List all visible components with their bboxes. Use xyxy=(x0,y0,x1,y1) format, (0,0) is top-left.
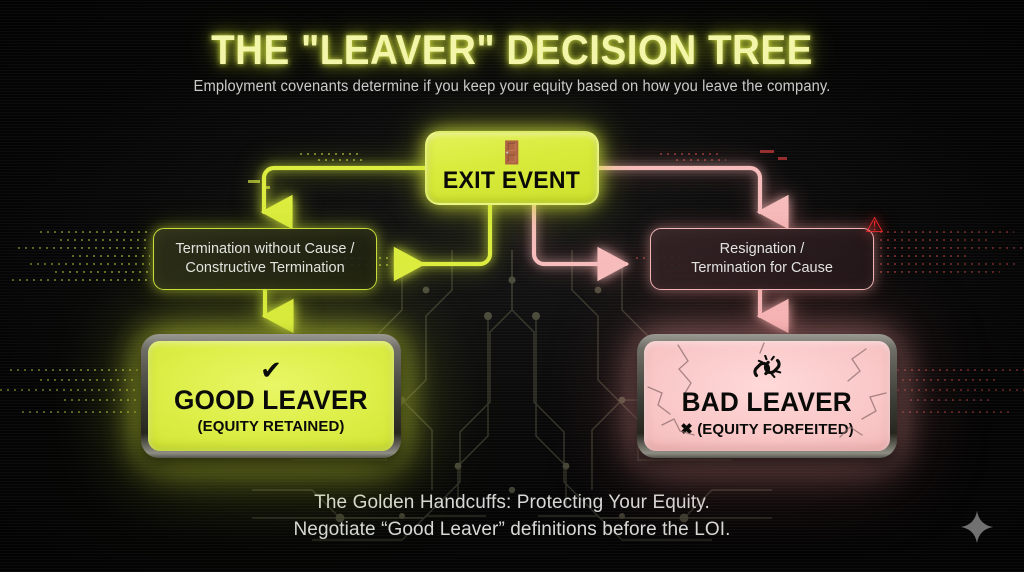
outcome-bad-leaver[interactable]: BAD LEAVER ✖ (EQUITY FORFEITED) xyxy=(637,334,897,458)
outcome-good-leaver-face: ✔ GOOD LEAVER (EQUITY RETAINED) xyxy=(148,341,394,451)
node-exit-event[interactable]: 🚪 EXIT EVENT xyxy=(425,131,599,205)
node-bad-path-line2: Termination for Cause xyxy=(691,259,833,278)
outcome-good-leaver-title: GOOD LEAVER xyxy=(174,385,368,416)
infographic-canvas: THE "LEAVER" DECISION TREE Employment co… xyxy=(0,0,1024,572)
page-title: THE "LEAVER" DECISION TREE xyxy=(41,26,983,74)
exit-door-running-person-icon: 🚪 xyxy=(498,142,525,164)
node-termination-without-cause[interactable]: Termination without Cause / Constructive… xyxy=(153,228,377,290)
checkmark-icon: ✔ xyxy=(260,357,282,383)
broken-chain-icon xyxy=(752,355,782,385)
node-good-path-line2: Constructive Termination xyxy=(185,259,344,278)
node-resignation-or-cause[interactable]: ⚠ Resignation / Termination for Cause xyxy=(650,228,874,290)
sparkle-star-icon xyxy=(960,510,994,544)
node-bad-path-line1: Resignation / xyxy=(720,240,805,259)
cross-mark-icon: ✖ xyxy=(680,421,693,438)
outcome-bad-leaver-title: BAD LEAVER xyxy=(682,387,852,418)
outcome-good-leaver[interactable]: ✔ GOOD LEAVER (EQUITY RETAINED) xyxy=(141,334,401,458)
outcome-bad-leaver-subtitle: ✖ (EQUITY FORFEITED) xyxy=(680,420,853,438)
warning-triangle-icon: ⚠ xyxy=(865,215,884,236)
page-subtitle: Employment covenants determine if you ke… xyxy=(26,78,999,96)
node-exit-event-label: EXIT EVENT xyxy=(443,167,580,195)
node-good-path-line1: Termination without Cause / xyxy=(176,240,355,259)
outcome-bad-leaver-face: BAD LEAVER ✖ (EQUITY FORFEITED) xyxy=(644,341,890,451)
outcome-good-leaver-subtitle: (EQUITY RETAINED) xyxy=(198,418,345,435)
footer-line-1: The Golden Handcuffs: Protecting Your Eq… xyxy=(0,490,1024,517)
footer-text: The Golden Handcuffs: Protecting Your Eq… xyxy=(0,490,1024,543)
footer-line-2: Negotiate “Good Leaver” definitions befo… xyxy=(0,517,1024,544)
outcome-bad-leaver-subtitle-text: (EQUITY FORFEITED) xyxy=(697,421,854,438)
